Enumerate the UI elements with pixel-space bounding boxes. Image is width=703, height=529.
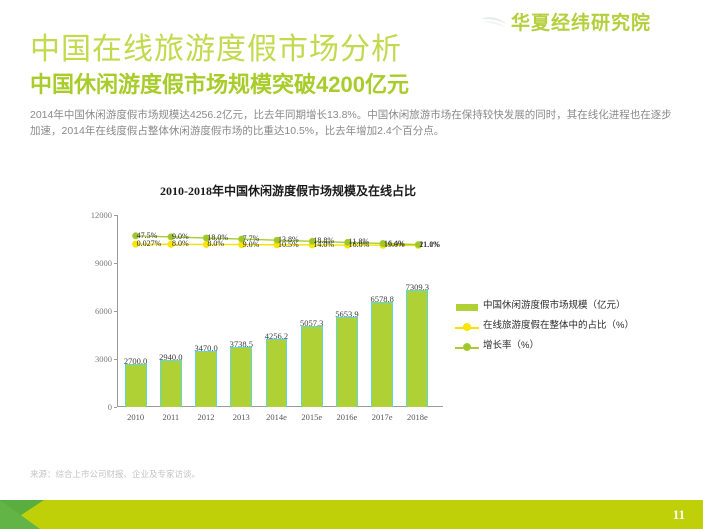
logo-text: 华夏经纬研究院 (511, 8, 651, 35)
legend-item[interactable]: 增长率（%） (454, 340, 674, 353)
y-axis-tick: 6000 (95, 306, 112, 316)
line-point-label: 47.5% (137, 231, 158, 240)
legend-key-swatch (454, 301, 480, 313)
legend-label: 中国休闲游度假市场规模（亿元） (483, 300, 668, 313)
line-point-label: 16.4% (384, 239, 405, 248)
bar-value-label: 3738.5 (230, 339, 253, 349)
y-axis-tick-mark (114, 215, 117, 216)
x-axis-tick: 2014e (266, 412, 287, 422)
chart-plot-area: 030006000900012000 2700.020102940.020113… (117, 215, 435, 407)
chart-title: 2010-2018年中国休闲游度假市场规模及在线占比 (18, 182, 558, 199)
page-number: 11 (673, 507, 685, 523)
y-axis-tick-mark (114, 311, 117, 312)
legend-item[interactable]: 在线旅游度假在整体中的占比（%） (454, 320, 674, 333)
legend-key-swatch (454, 321, 480, 333)
x-axis-tick: 2016e (337, 412, 358, 422)
chart-bar[interactable] (371, 302, 393, 407)
legend-marker-dot (463, 323, 471, 331)
line-point-label: 18.0% (207, 233, 228, 242)
chart-bar[interactable] (336, 317, 358, 407)
line-point-label: 13.8% (278, 235, 299, 244)
line-point-label: 11.8% (349, 237, 369, 246)
line-point-label: 11.1% (419, 240, 439, 249)
x-axis-tick: 2018e (407, 412, 428, 422)
y-axis-tick-mark (114, 407, 117, 408)
chart-bar[interactable] (160, 360, 182, 407)
bar-value-label: 3470.0 (194, 343, 217, 353)
bar-value-label: 6578.8 (370, 294, 393, 304)
line-point-label: 7.7% (243, 234, 260, 243)
y-axis-tick: 0 (108, 402, 112, 412)
legend-label: 增长率（%） (483, 340, 668, 353)
line-point-label: 9.0% (172, 232, 189, 241)
y-axis-tick: 9000 (95, 258, 112, 268)
bar-value-label: 2700.0 (124, 356, 147, 366)
bar-value-label: 7309.3 (406, 282, 429, 292)
swoosh-icon (481, 15, 507, 29)
chart-bar[interactable] (125, 364, 147, 407)
footer-band: 11 (0, 500, 703, 529)
chart-bar[interactable] (301, 326, 323, 407)
x-axis-tick: 2010 (127, 412, 144, 422)
bar-value-label: 4256.2 (265, 331, 288, 341)
page-title: 中国在线旅游度假市场分析 (30, 24, 402, 68)
x-axis-tick: 2013 (233, 412, 250, 422)
y-axis-tick-mark (114, 359, 117, 360)
footer-accent-triangle-2 (0, 500, 40, 529)
y-axis-tick-mark (114, 263, 117, 264)
x-axis-tick: 2012 (198, 412, 215, 422)
bar-value-label: 2940.0 (159, 352, 182, 362)
bar-value-label: 5653.9 (335, 309, 358, 319)
chart-bar[interactable] (406, 290, 428, 407)
legend-bar-swatch (456, 304, 478, 311)
line-point-label: 0.027% (137, 239, 162, 248)
legend-key-swatch (454, 341, 480, 353)
legend-marker-dot (463, 343, 471, 351)
chart-bar[interactable] (195, 351, 217, 407)
x-axis-tick: 2017e (372, 412, 393, 422)
x-axis-tick: 2015e (301, 412, 322, 422)
x-axis-tick: 2011 (162, 412, 179, 422)
slide-root: 华夏经纬研究院 中国在线旅游度假市场分析 中国休闲游度假市场规模突破4200亿元… (0, 0, 703, 529)
chart-container: 2010-2018年中国休闲游度假市场规模及在线占比 0300060009000… (18, 160, 685, 460)
source-note: 来源：综合上市公司财报、企业及专家访谈。 (30, 468, 200, 480)
chart-bar[interactable] (230, 347, 252, 407)
y-axis-tick: 3000 (95, 354, 112, 364)
y-axis-tick: 12000 (91, 210, 112, 220)
chart-bar[interactable] (266, 339, 288, 407)
brand-logo: 华夏经纬研究院 (481, 8, 651, 35)
chart-legend: 中国休闲游度假市场规模（亿元）在线旅游度假在整体中的占比（%）增长率（%） (454, 300, 674, 360)
lede-paragraph: 2014年中国休闲游度假市场规模达4256.2亿元，比去年同期增长13.8%。中… (30, 107, 678, 140)
bar-value-label: 5057.3 (300, 318, 323, 328)
page-subtitle: 中国休闲游度假市场规模突破4200亿元 (30, 67, 409, 99)
legend-item[interactable]: 中国休闲游度假市场规模（亿元） (454, 300, 674, 313)
legend-label: 在线旅游度假在整体中的占比（%） (483, 320, 668, 333)
line-point-label: 18.8% (313, 236, 334, 245)
